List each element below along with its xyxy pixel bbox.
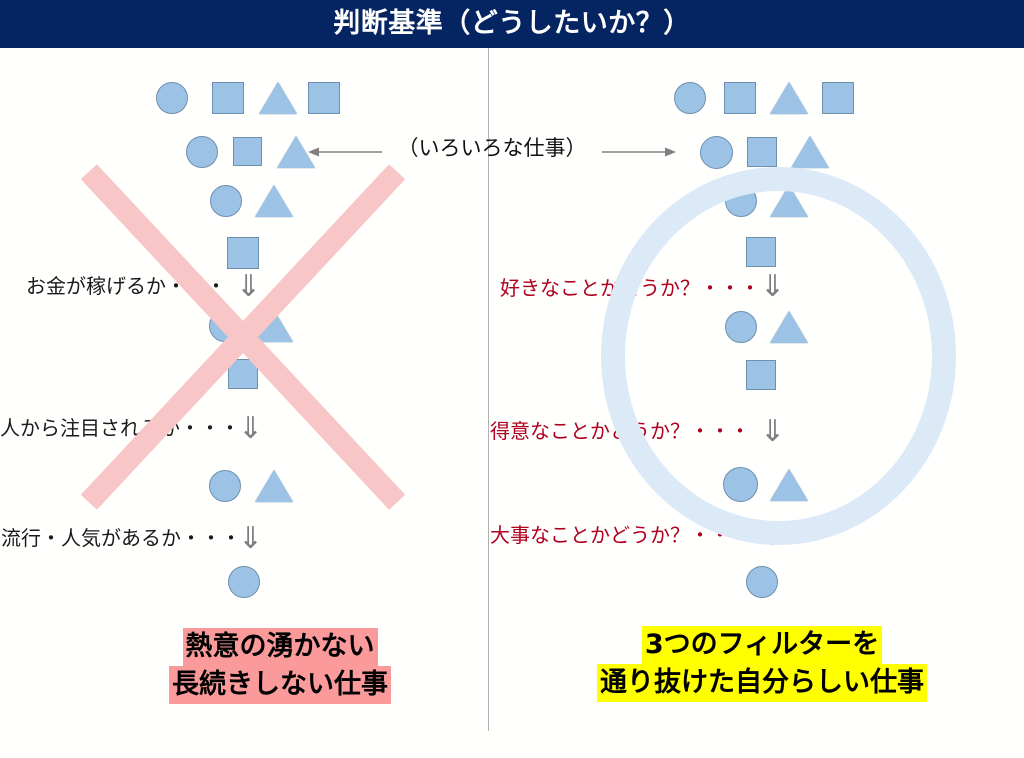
caption-right-line2: 通り抜けた自分らしい仕事: [597, 664, 927, 702]
shape-triangle: [791, 136, 829, 168]
shape-triangle: [770, 185, 808, 217]
criteria-left-attention: 人から注目されるか・・・: [0, 417, 238, 439]
criteria-right-like: 好きなことかどうか？・・・: [500, 277, 752, 299]
caption-right: 3つのフィルターを 通り抜けた自分らしい仕事: [552, 626, 972, 702]
down-arrow-icon: ⇓: [238, 414, 263, 444]
down-arrow-icon: ⇓: [236, 272, 261, 302]
shape-triangle: [770, 469, 808, 501]
down-arrow-icon: ⇓: [760, 521, 785, 551]
shape-square: [822, 82, 854, 114]
criteria-right-important: 大事なことかどうか？・・・: [490, 524, 742, 546]
shape-circle: [209, 310, 241, 342]
shape-circle: [725, 311, 757, 343]
shape-square: [724, 82, 756, 114]
criteria-right-good-at: 得意なことかどうか？・・・: [490, 420, 742, 442]
various-jobs-label: （いろいろな仕事）: [382, 136, 602, 160]
shape-circle: [746, 566, 778, 598]
shape-square: [746, 360, 776, 390]
shape-circle: [156, 82, 188, 114]
shape-triangle: [259, 82, 297, 114]
arrow-right-icon: [602, 145, 678, 159]
shape-circle: [186, 136, 218, 168]
shape-square: [308, 82, 340, 114]
shape-circle: [674, 82, 706, 114]
shape-circle: [209, 470, 241, 502]
shape-triangle: [770, 82, 808, 114]
down-arrow-icon: ⇓: [238, 524, 263, 554]
caption-left-line2: 長続きしない仕事: [169, 666, 391, 704]
red-cross-mark-icon: [88, 172, 398, 502]
caption-right-line1: 3つのフィルターを: [642, 626, 882, 664]
shape-triangle: [255, 470, 293, 502]
shape-circle: [723, 467, 758, 502]
down-arrow-icon: ⇓: [760, 272, 785, 302]
shape-square: [212, 82, 244, 114]
shape-square: [233, 137, 262, 166]
shape-square: [227, 237, 259, 269]
shape-circle: [210, 185, 242, 217]
shape-circle: [228, 566, 260, 598]
shape-circle: [725, 185, 757, 217]
down-arrow-icon: ⇓: [760, 417, 785, 447]
shape-square: [747, 137, 777, 167]
arrow-left-icon: [306, 145, 382, 159]
shape-triangle: [255, 185, 293, 217]
shape-square: [228, 359, 258, 389]
shape-triangle: [255, 310, 293, 342]
shape-triangle: [770, 311, 808, 343]
criteria-left-money: お金が稼げるか・・・: [0, 275, 226, 297]
caption-left: 熱意の湧かない 長続きしない仕事: [80, 628, 480, 704]
page-title: 判断基準（どうしたいか？）: [0, 0, 1024, 48]
shape-square: [746, 237, 776, 267]
caption-left-line1: 熱意の湧かない: [183, 628, 378, 666]
shape-circle: [700, 136, 733, 169]
criteria-left-popularity: 流行・人気があるか・・・: [0, 527, 241, 549]
slide-canvas: 判断基準（どうしたいか？） （いろいろ: [0, 0, 1024, 758]
